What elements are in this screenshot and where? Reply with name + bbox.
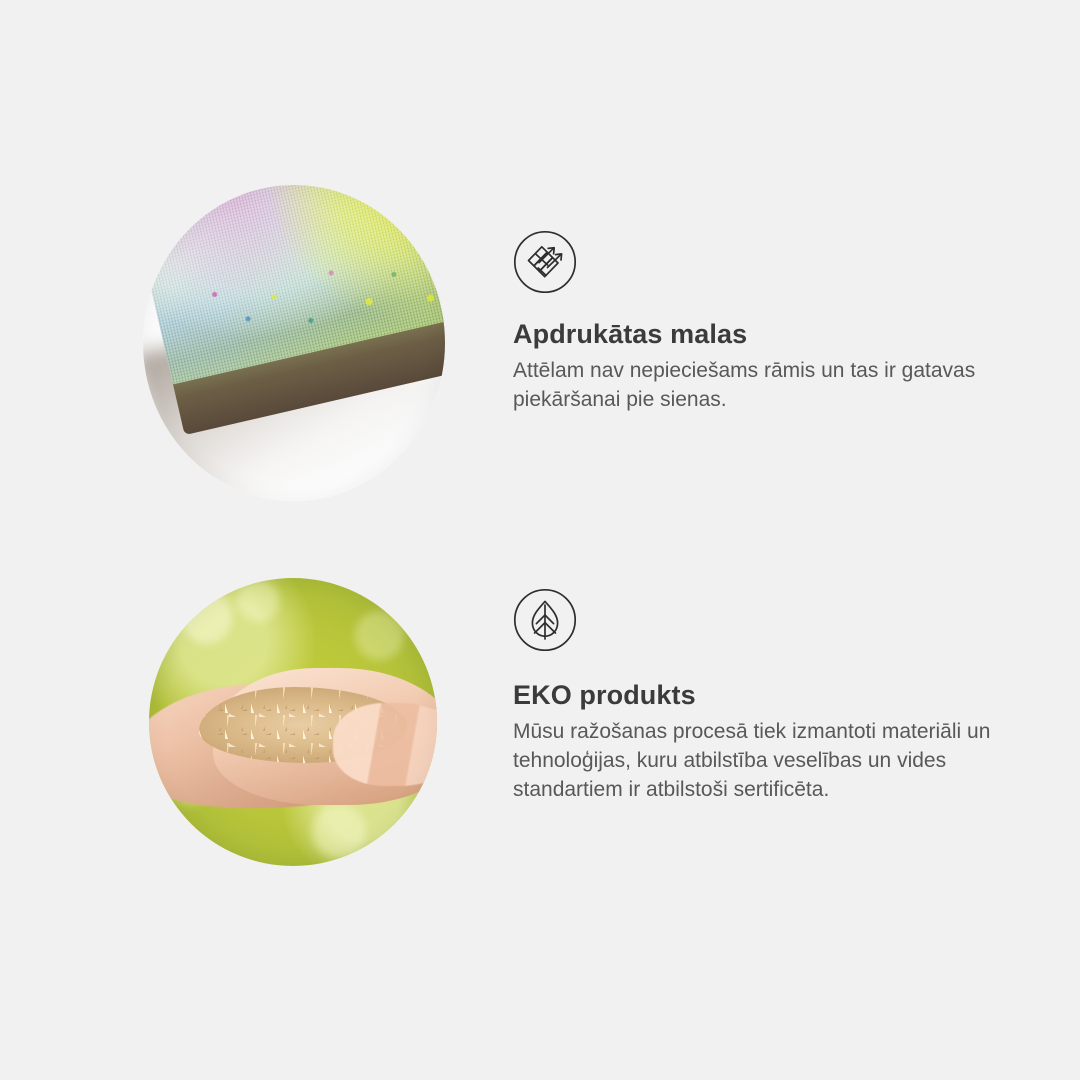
feature-body-printed-edges: Attēlam nav nepieciešams rāmis un tas ir… xyxy=(513,356,998,414)
leaf-icon xyxy=(513,588,577,652)
feature-printed-edges: Apdrukātas malas Attēlam nav nepieciešam… xyxy=(0,185,1080,505)
fingers xyxy=(333,703,437,785)
feature-image-printed-edges xyxy=(143,185,445,501)
feature-image-eco xyxy=(149,578,437,866)
canvas-corner xyxy=(143,185,445,501)
feature-eco: EKO produkts Mūsu ražošanas procesā tiek… xyxy=(0,578,1080,870)
hands-holding-wood-chips xyxy=(149,656,437,814)
feature-title-eco: EKO produkts xyxy=(513,680,1013,711)
feature-text-eco: EKO produkts Mūsu ražošanas procesā tiek… xyxy=(513,588,1013,804)
wrapped-canvas-edges-icon xyxy=(513,230,577,294)
feature-body-eco: Mūsu ražošanas procesā tiek izmantoti ma… xyxy=(513,717,998,804)
feature-list: Apdrukātas malas Attēlam nav nepieciešam… xyxy=(0,0,1080,1080)
feature-text-printed-edges: Apdrukātas malas Attēlam nav nepieciešam… xyxy=(513,230,1013,414)
feature-title-printed-edges: Apdrukātas malas xyxy=(513,319,1013,350)
